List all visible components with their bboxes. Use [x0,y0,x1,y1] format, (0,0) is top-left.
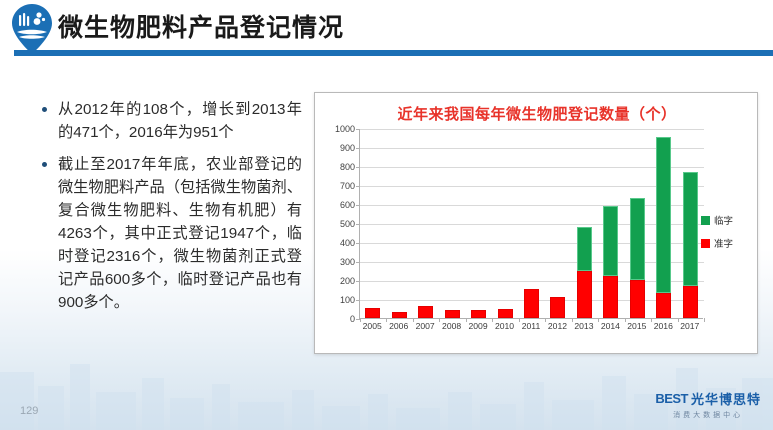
page-title: 微生物肥料产品登记情况 [58,8,344,44]
chart-panel: 近年来我国每年微生物肥登记数量（个） 010020030040050060070… [314,92,758,354]
legend-item[interactable]: 准字 [701,236,749,250]
bar-group[interactable] [360,128,386,318]
list-item: 截止至2017年年底，农业部登记的微生物肥料产品（包括微生物菌剂、复合微生物肥料… [40,153,302,314]
bar-group[interactable] [678,128,704,318]
bar-group[interactable] [413,128,439,318]
y-axis-tick-label: 800 [340,162,355,172]
bar-segment-linzi[interactable] [603,206,618,276]
brand-logo: BEST 光华博思特 消费大数据中心 [655,389,761,420]
bar-group[interactable] [493,128,519,318]
y-axis-tick-label: 300 [340,257,355,267]
bar-segment-zhunzi[interactable] [498,309,513,318]
brand-mark: BEST [655,391,688,406]
y-axis-tick-label: 0 [350,314,355,324]
x-axis-tick-label: 2014 [597,321,623,331]
legend-label: 临字 [714,213,733,227]
y-axis-tick-label: 900 [340,143,355,153]
plot-canvas [359,129,703,319]
y-axis-tick-label: 100 [340,295,355,305]
bar-group[interactable] [651,128,677,318]
bar-segment-zhunzi[interactable] [445,310,460,318]
bar-group[interactable] [598,128,624,318]
list-item: 从2012年的108个，增长到2013年的471个，2016年为951个 [40,98,302,144]
bar-segment-linzi[interactable] [577,227,592,272]
title-rule-gap [0,50,14,56]
bar-segment-zhunzi[interactable] [603,276,618,318]
chart-title: 近年来我国每年微生物肥登记数量（个） [315,103,759,124]
x-axis-tick-label: 2010 [492,321,518,331]
chart-legend: 临字准字 [701,213,749,259]
slide-header: 微生物肥料产品登记情况 [0,0,773,58]
bar-group[interactable] [572,128,598,318]
bullet-list: 从2012年的108个，增长到2013年的471个，2016年为951个 截止至… [40,98,302,323]
y-axis-tick-label: 400 [340,238,355,248]
y-axis-tick-label: 1000 [335,124,355,134]
x-axis-tick [704,318,705,322]
bar-segment-zhunzi[interactable] [392,312,407,318]
legend-swatch [701,239,710,248]
x-axis-labels: 2005200620072008200920102011201220132014… [359,321,703,337]
bar-segment-zhunzi[interactable] [550,297,565,318]
bar-segment-zhunzi[interactable] [630,280,645,318]
legend-item[interactable]: 临字 [701,213,749,227]
bar-segment-linzi[interactable] [630,198,645,280]
bar-group[interactable] [519,128,545,318]
x-axis-tick-label: 2013 [571,321,597,331]
legend-label: 准字 [714,236,733,250]
y-axis-tick-label: 200 [340,276,355,286]
slide-canvas: 微生物肥料产品登记情况 从2012年的108个，增长到2013年的471个，20… [0,0,773,430]
x-axis-tick-label: 2009 [465,321,491,331]
bar-segment-linzi[interactable] [656,137,671,293]
bar-segment-zhunzi[interactable] [418,306,433,318]
x-axis-tick-label: 2017 [677,321,703,331]
page-number: 129 [20,405,38,417]
y-axis-tick-label: 700 [340,181,355,191]
x-axis-tick-label: 2007 [412,321,438,331]
bar-group[interactable] [387,128,413,318]
x-axis-tick-label: 2005 [359,321,385,331]
x-axis-tick-label: 2011 [518,321,544,331]
bar-segment-zhunzi[interactable] [524,289,539,318]
x-axis-tick-label: 2012 [544,321,570,331]
legend-swatch [701,216,710,225]
x-axis-tick-label: 2016 [650,321,676,331]
brand-subtitle: 消费大数据中心 [655,410,761,420]
x-axis-tick-label: 2008 [439,321,465,331]
bar-segment-zhunzi[interactable] [365,308,380,318]
chart-plot-area: 01002003004005006007008009001000 2005200… [315,129,759,355]
bar-group[interactable] [440,128,466,318]
bar-segment-zhunzi[interactable] [656,293,671,318]
x-axis-tick-label: 2015 [624,321,650,331]
y-axis-tick-label: 600 [340,200,355,210]
bar-segment-zhunzi[interactable] [683,286,698,318]
bar-segment-zhunzi[interactable] [577,271,592,318]
y-axis-labels: 01002003004005006007008009001000 [321,129,355,319]
title-underline-rule [0,50,773,56]
x-axis-tick-label: 2006 [386,321,412,331]
bar-group[interactable] [625,128,651,318]
bar-segment-linzi[interactable] [683,172,698,286]
brand-name: 光华博思特 [691,389,761,408]
farm-location-pin-icon [10,3,54,55]
bar-group[interactable] [545,128,571,318]
y-axis-tick-label: 500 [340,219,355,229]
bar-segment-zhunzi[interactable] [471,310,486,318]
bar-group[interactable] [466,128,492,318]
